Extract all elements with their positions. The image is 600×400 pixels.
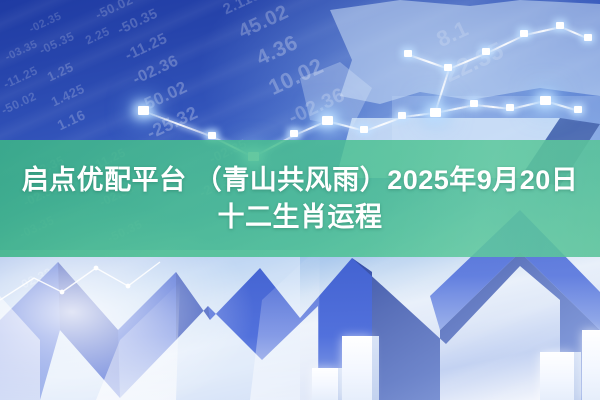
banner-image: -03.35-11.25-50.02-02.35-05.351.251.4251… bbox=[0, 0, 600, 400]
headline-line-1: 启点优配平台 （青山共风雨）2025年9月20日 bbox=[22, 165, 579, 195]
chart-bar bbox=[582, 330, 600, 400]
chart-bar bbox=[342, 336, 372, 400]
chart-bar-side bbox=[372, 336, 379, 400]
headline-block: 启点优配平台 （青山共风雨）2025年9月20日 十二生肖运程 bbox=[0, 140, 600, 257]
chart-bar bbox=[312, 368, 338, 400]
headline-line-2: 十二生肖运程 bbox=[218, 202, 383, 232]
chart-bar bbox=[540, 352, 574, 400]
chart-bar-side bbox=[574, 352, 581, 400]
